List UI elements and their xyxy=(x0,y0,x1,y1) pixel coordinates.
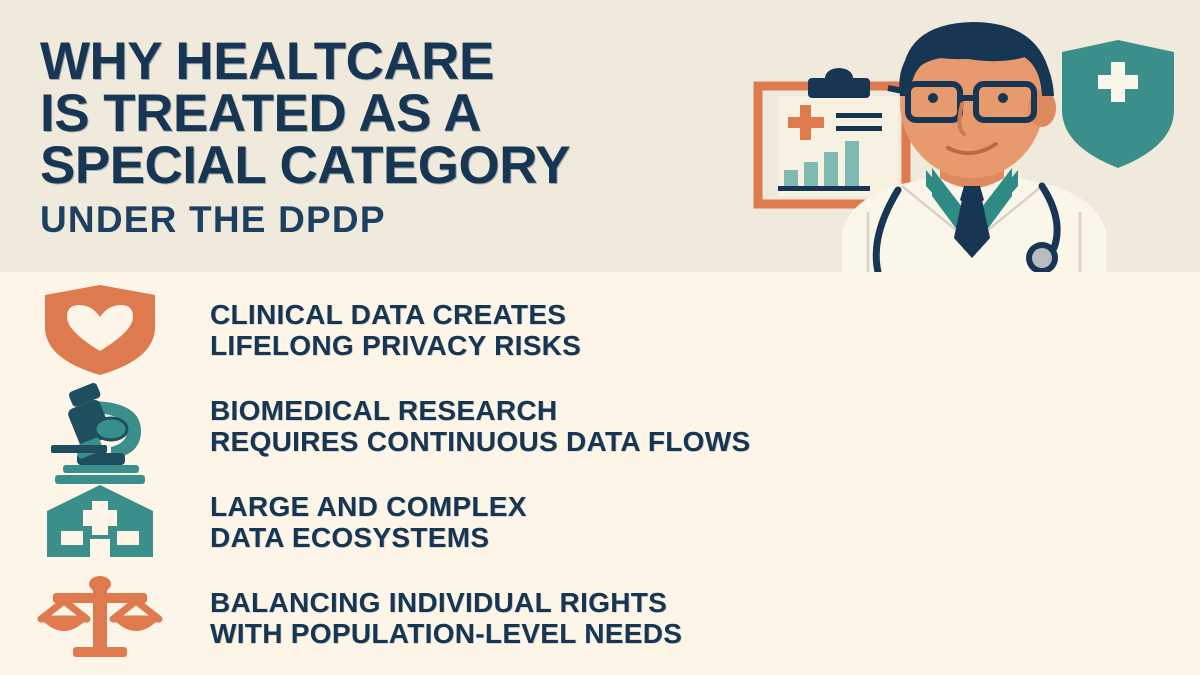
page-title-line-3: SPECIAL CATEGORY xyxy=(40,140,780,192)
list-item[interactable]: LARGE AND COMPLEX DATA ECOSYSTEMS xyxy=(0,474,1200,570)
list-item[interactable]: BIOMEDICAL RESEARCH REQUIRES CONTINUOUS … xyxy=(0,378,1200,474)
list-item-line: DATA ECOSYSTEMS xyxy=(210,522,1200,553)
title-block: WHY HEALTCARE IS TREATED AS A SPECIAL CA… xyxy=(40,36,780,240)
list-item-line: REQUIRES CONTINUOUS DATA FLOWS xyxy=(210,426,1200,457)
page-title-line-2: IS TREATED AS A xyxy=(40,88,780,140)
clipboard-chart-icon xyxy=(758,68,906,204)
page-title-line-1: WHY HEALTCARE xyxy=(40,36,780,88)
list-item-line: LARGE AND COMPLEX xyxy=(210,491,1200,522)
page-subtitle: UNDER THE DPDP xyxy=(40,200,780,240)
list-item-line: BIOMEDICAL RESEARCH xyxy=(210,395,1200,426)
doctor-illustration xyxy=(750,0,1200,272)
list-item-line: LIFELONG PRIVACY RISKS xyxy=(210,330,1200,361)
list-item-line: BALANCING INDIVIDUAL RIGHTS xyxy=(210,587,1200,618)
list-item-text: LARGE AND COMPLEX DATA ECOSYSTEMS xyxy=(155,491,1200,553)
infographic-canvas: WHY HEALTCARE IS TREATED AS A SPECIAL CA… xyxy=(0,0,1200,675)
list-item-text: CLINICAL DATA CREATES LIFELONG PRIVACY R… xyxy=(155,299,1200,361)
list-item-text: BALANCING INDIVIDUAL RIGHTS WITH POPULAT… xyxy=(155,587,1200,649)
list-item[interactable]: CLINICAL DATA CREATES LIFELONG PRIVACY R… xyxy=(0,282,1200,378)
list-item-line: CLINICAL DATA CREATES xyxy=(210,299,1200,330)
list-item-text: BIOMEDICAL RESEARCH REQUIRES CONTINUOUS … xyxy=(155,395,1200,457)
list-item-line: WITH POPULATION-LEVEL NEEDS xyxy=(210,618,1200,649)
list-item[interactable]: BALANCING INDIVIDUAL RIGHTS WITH POPULAT… xyxy=(0,570,1200,666)
key-points-list: CLINICAL DATA CREATES LIFELONG PRIVACY R… xyxy=(0,282,1200,666)
